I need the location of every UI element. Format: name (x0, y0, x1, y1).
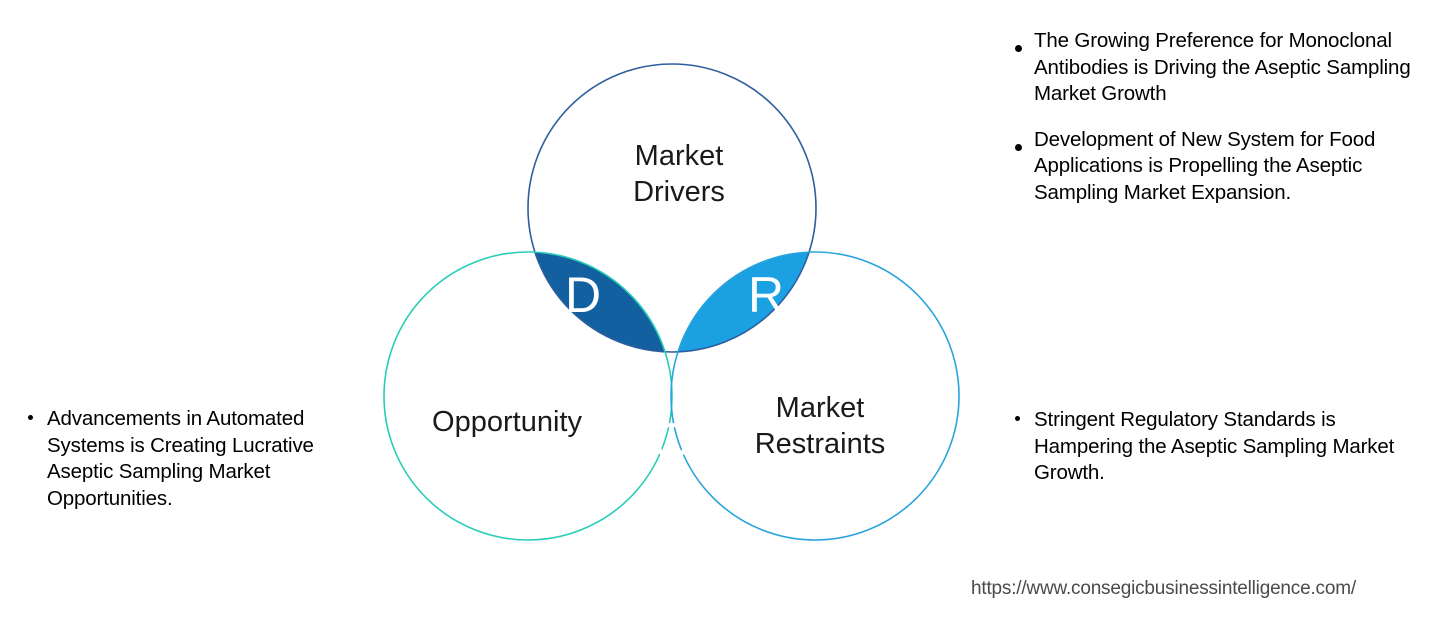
venn-diagram-svg: Market Drivers Opportunity Market Restra… (0, 0, 1000, 643)
bullet-item: Stringent Regulatory Standards is Hamper… (1007, 407, 1407, 487)
venn-label-restraints-line1: Market (776, 392, 865, 424)
bullet-item: The Growing Preference for Monoclonal An… (1007, 28, 1437, 108)
venn-label-drivers-line1: Market (635, 140, 724, 172)
callout-restraints: Stringent Regulatory Standards is Hamper… (1007, 407, 1407, 487)
bullet-text: The Growing Preference for Monoclonal An… (1034, 29, 1411, 105)
venn-label-restraints-line2: Restraints (755, 428, 886, 460)
bullet-dot-icon (28, 415, 33, 420)
venn-infographic-page: Market Drivers Opportunity Market Restra… (0, 0, 1453, 643)
bullet-text: Advancements in Automated Systems is Cre… (47, 407, 314, 510)
bullet-dot-icon (1015, 45, 1022, 52)
callout-drivers: The Growing Preference for Monoclonal An… (1007, 28, 1437, 206)
venn-diagram: Market Drivers Opportunity Market Restra… (0, 0, 1000, 643)
bullet-dot-icon (1015, 144, 1022, 151)
source-url[interactable]: https://www.consegicbusinessintelligence… (971, 578, 1356, 600)
venn-lens-drivers (384, 252, 672, 540)
venn-lens-letter-r: R (748, 267, 784, 323)
bullet-item: Advancements in Automated Systems is Cre… (20, 406, 375, 512)
bullet-item: Development of New System for Food Appli… (1007, 127, 1437, 207)
venn-label-opportunity: Opportunity (432, 406, 582, 438)
venn-label-drivers-line2: Drivers (633, 176, 725, 208)
bullet-text: Stringent Regulatory Standards is Hamper… (1034, 408, 1394, 484)
bullet-text: Development of New System for Food Appli… (1034, 128, 1375, 204)
bullet-dot-icon (1015, 416, 1020, 421)
venn-lens-letter-d: D (565, 267, 601, 323)
callout-opportunity: Advancements in Automated Systems is Cre… (20, 406, 375, 512)
venn-lens-letter-o: O (653, 413, 692, 469)
